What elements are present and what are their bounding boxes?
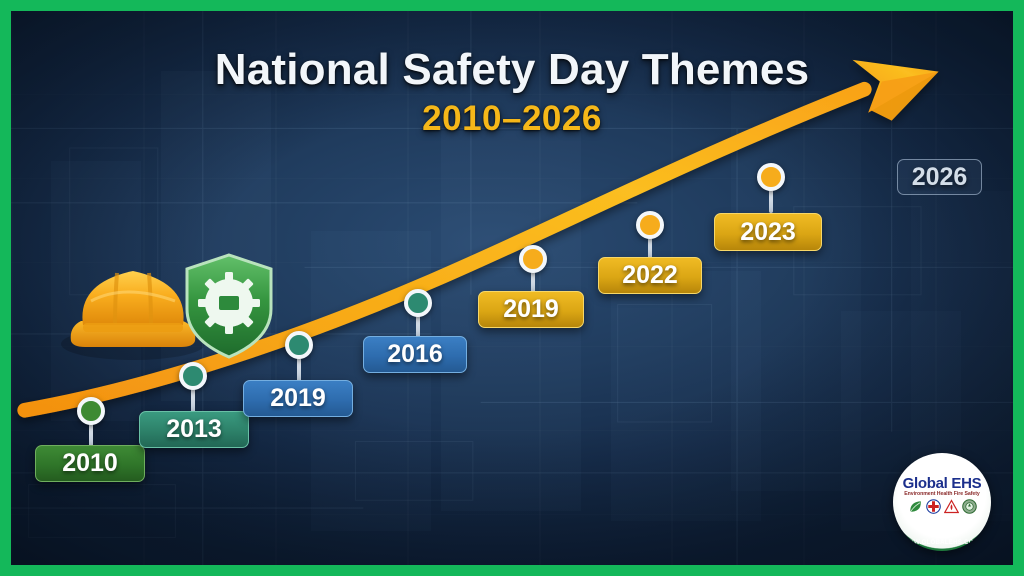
milestone-dot[interactable]	[285, 331, 313, 359]
health-cross-icon	[926, 499, 941, 514]
infographic-poster: National Safety Day Themes 2010–2026	[0, 0, 1024, 576]
logo-tagline: Environment Health Fire Safety	[893, 491, 991, 497]
leaf-icon	[908, 499, 923, 514]
milestone-year-label[interactable]: 2022	[598, 257, 702, 294]
milestone-year-label[interactable]: 2010	[35, 445, 145, 482]
milestone-year-label[interactable]: 2016	[363, 336, 467, 373]
milestone-dot[interactable]	[404, 289, 432, 317]
milestone-year-label[interactable]: 2019	[478, 291, 584, 328]
page-title: National Safety Day Themes	[11, 47, 1013, 93]
milestone-dot[interactable]	[757, 163, 785, 191]
page-subtitle-years: 2010–2026	[11, 99, 1013, 139]
fire-hazard-icon	[944, 499, 959, 514]
logo-website-url: WWW.GLOBALEHS.CO.IN	[893, 539, 991, 546]
milestone-year-label[interactable]: 2013	[139, 411, 249, 448]
logo-icon-row	[893, 499, 991, 514]
milestone-year-label[interactable]: 2019	[243, 380, 353, 417]
milestone-stem	[297, 355, 301, 382]
global-ehs-logo[interactable]: Global EHS Environment Health Fire Safet…	[893, 453, 991, 551]
hero-safety-icons	[55, 249, 285, 369]
poster-title-block: National Safety Day Themes 2010–2026	[11, 47, 1013, 139]
hard-hat-icon	[61, 271, 205, 360]
milestone-stem	[191, 386, 195, 413]
logo-name: Global EHS	[893, 475, 991, 492]
milestone-year-label[interactable]: 2023	[714, 213, 822, 251]
safety-seal-icon	[962, 499, 977, 514]
milestone-dot[interactable]	[636, 211, 664, 239]
milestone-dot[interactable]	[77, 397, 105, 425]
milestone-dot[interactable]	[519, 245, 547, 273]
